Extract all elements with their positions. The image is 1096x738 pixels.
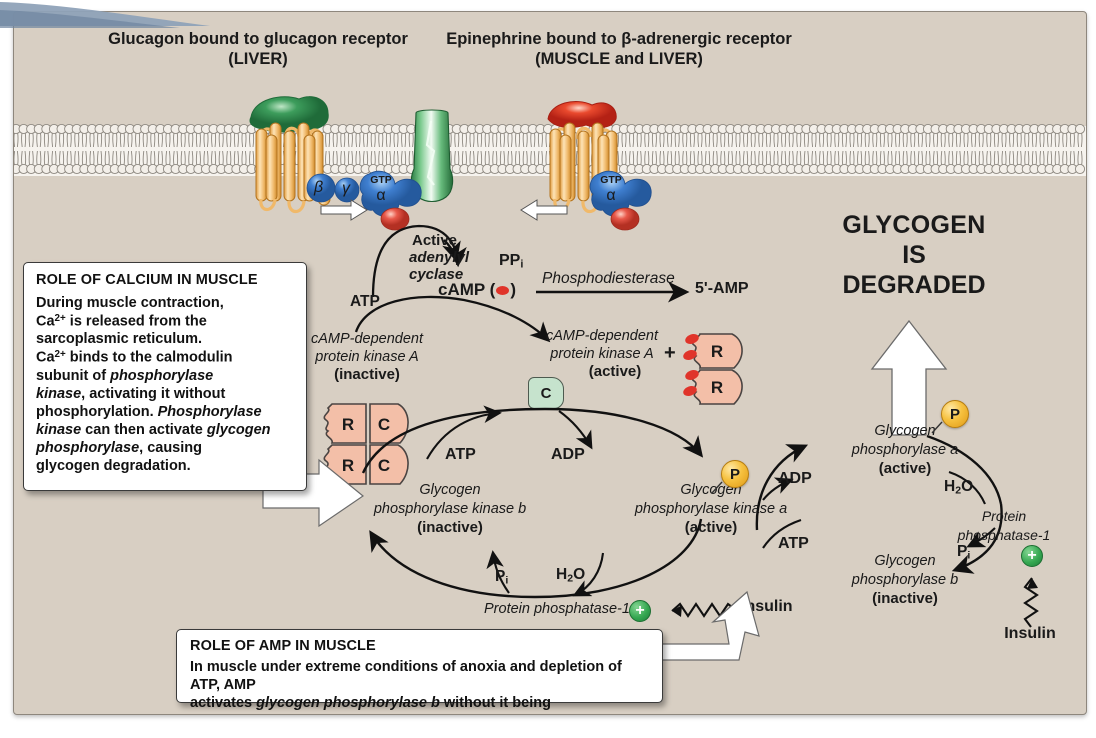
right-cycle-water: H2O — [944, 478, 973, 497]
callout-line: During muscle contraction, — [36, 295, 295, 313]
callout-line: subunit of phosphorylase — [36, 368, 295, 386]
pka-active-l3: (active) — [589, 364, 642, 381]
amp5-label: 5'-AMP — [695, 280, 749, 298]
glycogen-banner-l3: DEGRADED — [842, 271, 985, 299]
figure-root: Glucagon bound to glucagon receptor (LIV… — [0, 0, 1096, 738]
right-phosphatase-l2: phosphatase-1 — [958, 528, 1051, 544]
callout-line: glycogen degradation. — [36, 458, 295, 476]
adenylyl-cyclase-label-l1: Active — [412, 233, 457, 250]
right-cycle-pi: Pi — [957, 543, 970, 562]
amp-callout-heading: ROLE OF AMP IN MUSCLE — [190, 638, 652, 654]
gp-inactive-l1: Glycogen — [874, 553, 935, 569]
callout-line: Ca2+ binds to the calmodulin — [36, 349, 295, 367]
gp-active-l2: phosphorylase a — [852, 442, 958, 458]
glycogen-banner-l2: IS — [902, 241, 926, 269]
svg-text:R: R — [711, 342, 723, 361]
callout-role-of-amp: ROLE OF AMP IN MUSCLE In muscle under ex… — [176, 629, 663, 703]
svg-text:R: R — [711, 378, 723, 397]
left-cycle-water: H2O — [556, 566, 585, 585]
plus-sign: + — [664, 342, 676, 364]
left-phosphatase-plus-icon: + — [629, 600, 651, 622]
diagram-panel: Glucagon bound to glucagon receptor (LIV… — [13, 11, 1087, 715]
callout-line: Ca2+ is released from the — [36, 313, 295, 331]
camp-close-paren: ) — [510, 280, 516, 299]
callout-line: activates glycogen phosphorylase b witho… — [190, 695, 652, 715]
glycogen-banner-l1: GLYCOGEN — [842, 211, 985, 239]
right-insulin-activation-arrow — [1019, 563, 1043, 629]
callout-line: kinase, activating it without — [36, 386, 295, 404]
ppi-label: PPi — [499, 252, 523, 271]
phosphate-tick-phosphorylase — [926, 420, 950, 438]
left-phosphatase-label: Protein phosphatase-1 — [484, 601, 630, 617]
pka-inactive-l1: cAMP-dependent — [311, 331, 423, 347]
gp-inactive-l3: (inactive) — [872, 591, 938, 608]
right-phosphatase-l1: Protein — [982, 509, 1026, 525]
c-subunit-released: C — [528, 377, 564, 409]
pk-inactive-l2: phosphorylase kinase b — [374, 501, 526, 517]
decorative-swoosh — [0, 0, 300, 30]
left-cycle-pi: Pi — [495, 568, 508, 587]
camp-red-dot-icon — [496, 286, 509, 295]
ppi-text: PP — [499, 252, 520, 269]
pka-active-l1: cAMP-dependent — [546, 328, 658, 344]
ppi-subscript: i — [520, 259, 523, 271]
callout-line: In muscle under extreme conditions of an… — [190, 659, 652, 695]
callout-line: phosphorylation. Phosphorylase — [36, 404, 295, 422]
right-insulin-label: Insulin — [1004, 625, 1056, 643]
amp-callout-body: In muscle under extreme conditions of an… — [190, 659, 652, 715]
phosphate-tick-kinase — [706, 480, 730, 498]
callout-line: kinase can then activate glycogen — [36, 422, 295, 440]
callout-role-of-calcium: ROLE OF CALCIUM IN MUSCLE During muscle … — [23, 262, 307, 491]
gp-active-l3: (active) — [879, 461, 932, 478]
right-cycle-atp: ATP — [778, 535, 809, 553]
pk-active-l3: (active) — [685, 520, 738, 537]
amp-callout-pointer — [659, 592, 779, 672]
r-subunit-dimer-with-camp: R R — [686, 330, 796, 410]
pka-inactive-l3: (inactive) — [334, 367, 400, 384]
left-cycle-adp: ADP — [551, 446, 585, 464]
callout-line: phosphorylase, causing — [36, 440, 295, 458]
camp-label: cAMP () — [438, 280, 516, 299]
calcium-callout-heading: ROLE OF CALCIUM IN MUSCLE — [36, 272, 295, 288]
calcium-callout-body: During muscle contraction,Ca2+ is releas… — [36, 295, 295, 476]
phosphodiesterase-label: Phosphodiesterase — [542, 270, 675, 287]
atp-substrate-label: ATP — [350, 293, 380, 310]
callout-line: sarcoplasmic reticulum. — [36, 331, 295, 349]
right-cycle-adp: ADP — [778, 470, 812, 488]
pka-inactive-l2: protein kinase A — [315, 349, 418, 365]
pka-active-l2: protein kinase A — [550, 346, 653, 362]
pk-inactive-l3: (inactive) — [417, 520, 483, 537]
gp-inactive-l2: phosphorylase b — [852, 572, 958, 588]
left-cycle-atp: ATP — [445, 446, 476, 464]
adenylyl-cyclase-label-l2: adenylyl — [409, 250, 469, 267]
pk-inactive-l1: Glycogen — [419, 482, 480, 498]
camp-text: cAMP ( — [438, 280, 495, 299]
